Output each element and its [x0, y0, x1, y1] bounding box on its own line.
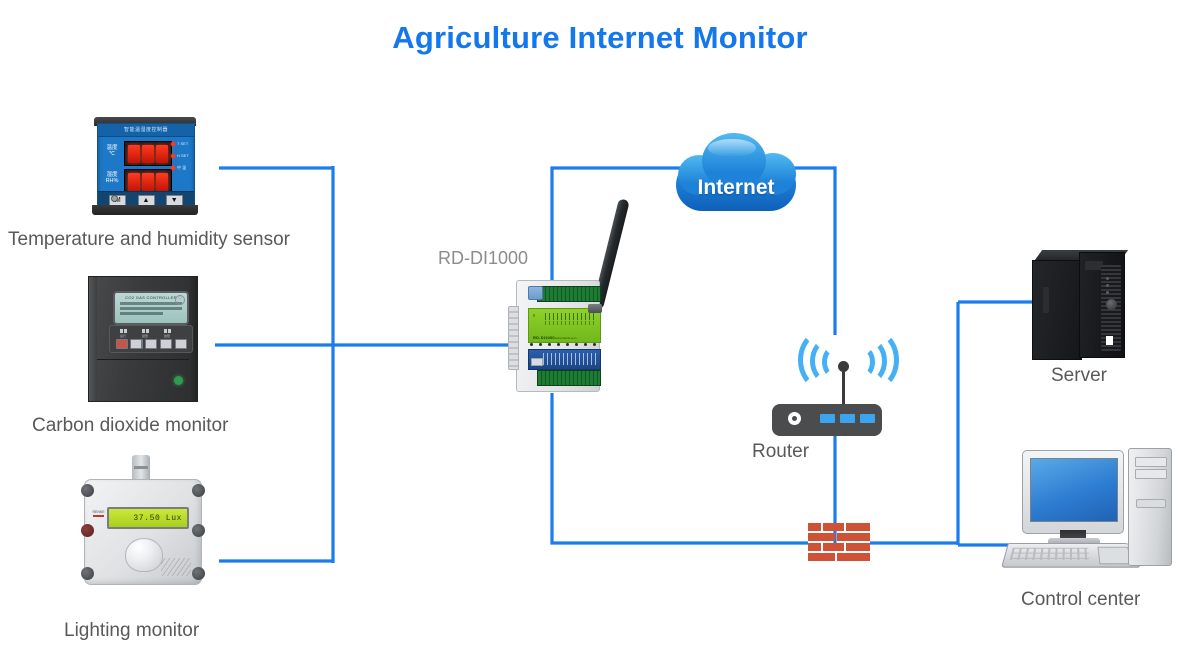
- pc-front-slot: [1136, 499, 1166, 508]
- co2-indicator-fault: 故障: [164, 329, 171, 333]
- sensor-led-hset: H SET: [171, 153, 191, 158]
- sensor-bracket-bottom: [92, 205, 198, 215]
- sensor-temp-label: 温度℃: [103, 145, 121, 157]
- co2-key-menu[interactable]: [130, 339, 142, 349]
- co2-indicator-alarm: 报警: [142, 329, 149, 333]
- gateway-label-ticks: [545, 313, 596, 320]
- lux-mount-ear: [81, 567, 94, 580]
- wire-gateway-firewall: [552, 393, 808, 543]
- co2-lcd-line: [120, 312, 163, 315]
- seg: [142, 173, 154, 191]
- server-status-leds: [1106, 277, 1109, 298]
- keyboard-keys: [1010, 548, 1090, 560]
- co2-left-strip: [89, 277, 97, 401]
- sensor-indicator-leds: T SET H SET 中 温: [171, 141, 191, 178]
- gateway-side-fins: [508, 306, 519, 370]
- co2-key-left[interactable]: [145, 339, 157, 349]
- pc-drive-bay: [1135, 469, 1167, 479]
- pc-drive-bay: [1135, 457, 1167, 467]
- sensor-led-mid: 中 温: [171, 165, 191, 171]
- monitor-screen: [1030, 458, 1118, 522]
- temperature-humidity-sensor-label: Temperature and humidity sensor: [8, 229, 290, 251]
- router-icon[interactable]: [772, 338, 892, 436]
- sensor-body: 智能温湿度控制器 温度℃ 湿度RH% T SET H SET 中 温 M ▲: [97, 123, 195, 211]
- lux-brand-label: RENKE: [91, 510, 106, 518]
- co2-key-enter[interactable]: [175, 339, 187, 349]
- router-port-1: [820, 414, 835, 423]
- server-power-button[interactable]: [1106, 299, 1117, 310]
- cloud-label: Internet: [672, 176, 800, 200]
- co2-lcd-line: [120, 302, 182, 305]
- carbon-dioxide-monitor-icon[interactable]: CO2 GAS CONTROLLER R 运行 报警 故障: [88, 276, 198, 402]
- pc-tower: [1128, 448, 1172, 566]
- keyboard[interactable]: [1001, 543, 1141, 568]
- server-front-panel: [1079, 252, 1125, 358]
- lux-body: RENKE 37.50 Lux: [84, 479, 202, 585]
- router-power-led: [788, 412, 801, 425]
- co2-key-right[interactable]: [160, 339, 172, 349]
- co2-control-panel[interactable]: 运行 报警 故障: [109, 325, 193, 353]
- monitor-frame: [1022, 450, 1124, 534]
- desktop-computer-icon[interactable]: [1006, 448, 1170, 570]
- seg: [142, 145, 154, 163]
- wifi-arc-right-inner: [851, 346, 875, 378]
- firewall-brick-row: [808, 543, 870, 551]
- router-port-3: [860, 414, 875, 423]
- firewall-brick-row: [808, 533, 870, 541]
- router-port-2: [840, 414, 855, 423]
- gateway-usb-port[interactable]: [528, 286, 543, 300]
- server-badge: [1106, 336, 1113, 345]
- gateway-blue-terminal: [528, 349, 601, 370]
- co2-nav-keys[interactable]: [130, 339, 187, 349]
- co2-lcd-line: [120, 307, 182, 310]
- seg: [128, 145, 140, 163]
- gateway-label: RD-DI1000: [438, 248, 528, 269]
- router-antenna: [842, 368, 845, 406]
- server-label: Server: [1051, 365, 1107, 387]
- carbon-dioxide-monitor-label: Carbon dioxide monitor: [32, 415, 228, 437]
- gateway-terminal-top: [537, 286, 601, 302]
- gateway-status-leds: [530, 343, 596, 346]
- co2-upper-section: CO2 GAS CONTROLLER R 运行 报警 故障: [97, 277, 189, 360]
- seg: [156, 173, 168, 191]
- cloud-icon[interactable]: Internet: [672, 133, 800, 219]
- co2-case: CO2 GAS CONTROLLER R 运行 报警 故障: [88, 276, 198, 402]
- gateway-shell: DI RD-DI1000 www.rdcctv.com: [516, 280, 600, 392]
- control-center-label: Control center: [1021, 589, 1140, 611]
- sensor-temp-display: [124, 141, 172, 166]
- lighting-monitor-label: Lighting monitor: [64, 620, 199, 642]
- lux-lcd-reading: 37.50 Lux: [107, 507, 189, 529]
- server-side-panel: [1032, 260, 1082, 360]
- diagram-canvas: Agriculture Internet Monitor 智能温湿度控制器 温度…: [0, 0, 1200, 666]
- temperature-humidity-sensor-icon[interactable]: 智能温湿度控制器 温度℃ 湿度RH% T SET H SET 中 温 M ▲: [86, 117, 204, 215]
- gateway-terminal-bottom: [537, 370, 601, 386]
- lux-mount-ear: [192, 484, 205, 497]
- lux-vent-lines: [161, 558, 191, 576]
- lux-sensor-dome: [125, 538, 163, 572]
- cloud-highlight: [708, 139, 756, 157]
- firewall-brick-row: [808, 553, 870, 561]
- sensor-humidity-label: 湿度RH%: [103, 172, 121, 184]
- co2-indicator-run: 运行: [120, 329, 127, 333]
- gateway-model-text: RD-DI1000: [533, 335, 555, 340]
- router-body: [772, 404, 882, 436]
- gateway-site-text: www.rdcctv.com: [555, 336, 576, 340]
- lighting-monitor-icon[interactable]: RENKE 37.50 Lux: [70, 455, 214, 585]
- gateway-blue-tag: [531, 358, 543, 366]
- seg: [128, 173, 140, 191]
- gateway-device-icon[interactable]: DI RD-DI1000 www.rdcctv.com: [508, 280, 606, 390]
- gateway-blue-pins: [543, 353, 597, 365]
- co2-brand-mark: R: [175, 295, 185, 305]
- firewall-brick-row: [808, 523, 870, 531]
- lux-mount-ear: [81, 484, 94, 497]
- server-side-vent: [1043, 287, 1049, 313]
- lux-mount-ear: [81, 524, 94, 537]
- lux-mount-ear: [192, 524, 205, 537]
- gateway-front-label: DI RD-DI1000 www.rdcctv.com: [528, 308, 601, 343]
- lux-mount-ear: [192, 567, 205, 580]
- gateway-label-ticks: [545, 321, 596, 325]
- co2-power-led: [174, 376, 183, 385]
- gateway-side-text: DI: [532, 314, 536, 317]
- seg: [156, 145, 168, 163]
- firewall-brick-icon[interactable]: [808, 523, 870, 563]
- sensor-led-tset: T SET: [171, 141, 191, 146]
- gateway-antenna-hinge: [588, 304, 602, 313]
- server-tower-icon[interactable]: [1032, 250, 1128, 360]
- sensor-panel-title: 智能温湿度控制器: [98, 124, 194, 137]
- router-label: Router: [752, 441, 809, 463]
- co2-key-alarm[interactable]: [116, 339, 128, 349]
- sensor-screw: [111, 195, 118, 202]
- page-title: Agriculture Internet Monitor: [0, 20, 1200, 56]
